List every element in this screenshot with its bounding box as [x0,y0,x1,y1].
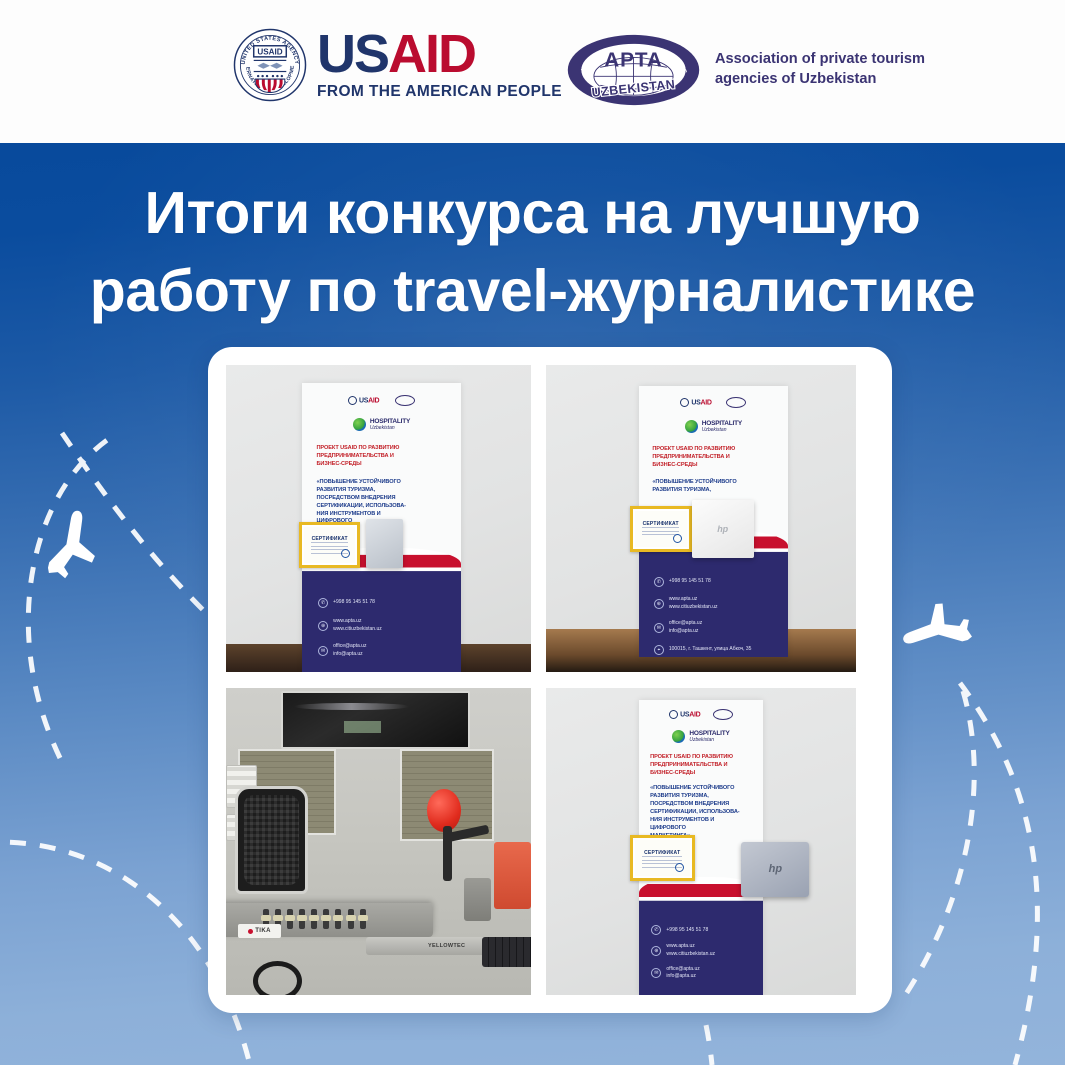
office-chair [235,786,308,893]
rollup-red-heading: ПРОЕКТ USAID ПО РАЗВИТИЮ ПРЕДПРИНИМАТЕЛЬ… [317,445,452,469]
rollup-brand-sub: Uzbekistan [370,425,410,431]
studio-headphones [253,961,302,995]
rollup4-navy-footer: ✆ +998 95 145 51 78 ⊕ www.apta.uz www.ci… [639,915,763,995]
certificate-frame-2: СЕРТИФИКАТ [630,506,692,552]
apta-name-text: Association of private tourism agencies … [715,50,925,89]
usaid-seal-icon: UNITED STATES AGENCY INTERNATIONAL DEVEL… [233,28,307,102]
globe-web-icon: ⊕ [654,599,664,609]
rollup-mail-block: office@apta.uz info@apta.uz [333,643,366,658]
globe-icon [685,420,698,433]
rollup2-navy-footer: ✆ +998 95 145 51 78 ⊕ www.apta.uz www.ci… [639,565,788,657]
rollup4-contact-phone-row: ✆ +998 95 145 51 78 [651,925,763,935]
rollup2-blue-text: «ПОВЫШЕНИЕ УСТОЙЧИВОГО РАЗВИТИЯ ТУРИЗМА, [652,479,778,495]
rollup2-address: 100015, г. Ташкент, улица Абкоч, 35 [669,646,752,654]
usaid-tagline: FROM THE AMERICAN PEOPLE [317,83,562,101]
studio-orange-panel [494,842,531,910]
rollup4-mail2: info@apta.uz [666,973,699,981]
rollup4-mail-block: office@apta.uz info@apta.uz [666,966,699,981]
apta-oval-icon: ASSOCIATION OF PRIVATE TOURISM AGENCIES … [566,33,701,107]
rollup2-web-block: www.apta.uz www.citiuzbekistan.uz [669,596,718,611]
rollup4-contact-web-row: ⊕ www.apta.uz www.citiuzbekistan.uz [651,943,763,958]
white-laptop-box: hp [692,500,754,558]
hp-laptop: hp [741,842,809,897]
rollup2-blue-line1: «ПОВЫШЕНИЕ УСТОЙЧИВОГО [652,479,778,487]
rollup2-hospitality-logo: HOSPITALITY Uzbekistan [639,420,788,433]
main-gradient-panel: Итоги конкурса на лучшую работу по trave… [0,143,1065,1065]
certificate-inner: СЕРТИФИКАТ [304,527,355,563]
mail-icon: ✉ [318,646,328,656]
apta-logo: ASSOCIATION OF PRIVATE TOURISM AGENCIES … [566,33,925,107]
usaid-wordmark: USAID FROM THE AMERICAN PEOPLE [317,29,562,101]
tika-brand-text: TIKA [255,928,271,934]
rollup4-red-line1: ПРОЕКТ USAID ПО РАЗВИТИЮ [650,754,755,762]
tika-dot-icon [248,929,253,934]
tablet-device [366,519,403,568]
certificate-title-2: СЕРТИФИКАТ [635,521,687,527]
usaid-wordmark-text: USAID [317,29,562,80]
rollup2-contacts: ✆ +998 95 145 51 78 ⊕ www.apta.uz www.ci… [639,565,788,655]
rollup-web1: www.apta.uz [333,618,382,626]
rollup-contact-web-row: ⊕ www.apta.uz www.citiuzbekistan.uz [318,618,461,633]
rollup4-brand-sub: Uzbekistan [689,737,729,743]
hp-laptop-logo-icon: hp [769,863,782,875]
rollup4-web-block: www.apta.uz www.citiuzbekistan.uz [666,943,715,958]
rollup4-phone: +998 95 145 51 78 [666,927,708,935]
rollup4-red-line2: ПРЕДПРИНИМАТЕЛЬСТВА И [650,762,755,770]
page-title-line1: Итоги конкурса на лучшую [0,174,1065,252]
globe-icon [672,730,685,743]
photo-grid: USAID HOSPITALITY Uzbekistan ПРОЕКТ USAI… [226,365,874,995]
apta-name-line2: agencies of Uzbekistan [715,70,925,90]
rollup2-red-line1: ПРОЕКТ USAID ПО РАЗВИТИЮ [652,446,778,454]
studio-wall-tv [281,691,470,749]
studio-monitor-stand [464,878,491,921]
rollup-hospitality-logo: HOSPITALITY Uzbekistan [302,418,461,431]
rollup-red-line1: ПРОЕКТ USAID ПО РАЗВИТИЮ [317,445,452,453]
rollup4-contact-mail-row: ✉ office@apta.uz info@apta.uz [651,966,763,981]
rollup4-usaid-logo: USAID [669,710,700,719]
rollup-blue-line3: ПОСРЕДСТВОМ ВНЕДРЕНИЯ [317,495,452,503]
certificate-seal-icon [341,549,350,558]
rollup2-brand-name: HOSPITALITY [702,420,742,427]
rollup2-web2: www.citiuzbekistan.uz [669,604,718,612]
photo-radio-studio[interactable]: TIKA YELLOWTEC [226,688,531,995]
photo-award-woman-yellow[interactable]: USAID HOSPITALITY Uzbekistan ПРОЕКТ USAI… [546,365,856,672]
rollup-phone: +998 95 145 51 78 [333,599,375,607]
rollup4-apta-logo [713,709,733,720]
svg-text:APTA: APTA [604,48,662,71]
usaid-word-aid: AID [388,24,475,84]
rollup2-usaid-logo: USAID [680,398,711,407]
rollup-apta-logo [395,395,415,406]
rollup4-web1: www.apta.uz [666,943,715,951]
rollup4-hospitality-logo: HOSPITALITY Uzbekistan [639,730,763,743]
rollup4-mail1: office@apta.uz [666,966,699,974]
rollup-contacts: ✆ +998 95 145 51 78 ⊕ www.apta.uz www.ci… [302,585,461,658]
certificate-seal-icon-2 [673,534,682,543]
mail-icon: ✉ [654,623,664,633]
airplane-icon-right [901,595,979,670]
rollup2-brand-sub: Uzbekistan [702,427,742,433]
rollup2-mail2: info@apta.uz [669,628,702,636]
rollup-red-line2: ПРЕДПРИНИМАТЕЛЬСТВА И [317,453,452,461]
yellowtec-brand-text: YELLOWTEC [428,943,465,949]
globe-web-icon: ⊕ [318,621,328,631]
mic-arm-yellowtec: YELLOWTEC [366,937,500,955]
rollup2-mail1: office@apta.uz [669,620,702,628]
rollup4-brand-name: HOSPITALITY [689,730,729,737]
rollup-mail1: office@apta.uz [333,643,366,651]
rollup-contact-mail-row: ✉ office@apta.uz info@apta.uz [318,643,461,658]
certificate-frame: СЕРТИФИКАТ [299,522,360,568]
phone-icon: ✆ [654,577,664,587]
certificate-inner-4: СЕРТИФИКАТ [635,840,690,876]
header-logo-band: UNITED STATES AGENCY INTERNATIONAL DEVEL… [0,0,1065,143]
rollup-blue-line5: НИЯ ИНСТРУМЕНТОВ И [317,511,452,519]
dashed-path-right [960,683,1037,1065]
rollup-logos: USAID [302,383,461,405]
mail-icon: ✉ [651,968,661,978]
certificate-seal-icon-4 [675,863,684,872]
page-title: Итоги конкурса на лучшую работу по trave… [0,174,1065,331]
rollup4-blue-text: «ПОВЫШЕНИЕ УСТОЙЧИВОГО РАЗВИТИЯ ТУРИЗМА,… [650,785,755,841]
rollup2-contact-mail-row: ✉ office@apta.uz info@apta.uz [654,620,788,635]
svg-text:USAID: USAID [257,47,282,56]
rollup2-mail-block: office@apta.uz info@apta.uz [669,620,702,635]
certificate-title: СЕРТИФИКАТ [304,536,355,542]
rollup4-blue-line4: СЕРТИФИКАЦИИ, ИСПОЛЬЗОВА- [650,809,755,817]
photo-award-woman-laptop[interactable]: USAID HOSPITALITY Uzbekistan ПРОЕКТ USAI… [546,688,856,995]
globe-icon [353,418,366,431]
rollup4-blue-line5: НИЯ ИНСТРУМЕНТОВ И [650,817,755,825]
rollup-red-line3: БИЗНЕС-СРЕДЫ [317,461,452,469]
phone-icon: ✆ [318,598,328,608]
studio-keyboard [482,937,531,968]
rollup2-red-line3: БИЗНЕС-СРЕДЫ [652,462,778,470]
rollup2-blue-line2: РАЗВИТИЯ ТУРИЗМА, [652,487,778,495]
rollup-mail2: info@apta.uz [333,651,366,659]
page-title-line2: работу по travel-журналистике [0,252,1065,330]
photo-award-man-tablet[interactable]: USAID HOSPITALITY Uzbekistan ПРОЕКТ USAI… [226,365,531,672]
rollup4-blue-line1: «ПОВЫШЕНИЕ УСТОЙЧИВОГО [650,785,755,793]
rollup4-web2: www.citiuzbekistan.uz [666,951,715,959]
rollup4-contacts: ✆ +998 95 145 51 78 ⊕ www.apta.uz www.ci… [639,915,763,981]
certificate-inner-2: СЕРТИФИКАТ [635,511,687,547]
rollup-web-block: www.apta.uz www.citiuzbekistan.uz [333,618,382,633]
rollup-blue-line1: «ПОВЫШЕНИЕ УСТОЙЧИВОГО [317,479,452,487]
rollup2-logos: USAID [639,386,788,407]
rollup2-contact-phone-row: ✆ +998 95 145 51 78 [654,577,788,587]
chair-mesh [244,795,299,884]
rollup2-web1: www.apta.uz [669,596,718,604]
usaid-word-us: US [317,24,388,84]
rollup4-red-line3: БИЗНЕС-СРЕДЫ [650,770,755,778]
dashed-path-right-inner [900,691,974,1003]
rollup2-red-heading: ПРОЕКТ USAID ПО РАЗВИТИЮ ПРЕДПРИНИМАТЕЛЬ… [652,446,778,470]
rollup4-blue-line6: ЦИФРОВОГО [650,825,755,833]
rollup2-contact-web-row: ⊕ www.apta.uz www.citiuzbekistan.uz [654,596,788,611]
rollup4-logos: USAID [639,700,763,720]
tv-screen-glare [294,703,409,711]
tika-brand-label: TIKA [238,924,281,938]
rollup-blue-line2: РАЗВИТИЯ ТУРИЗМА, [317,487,452,495]
rollup-web2: www.citiuzbekistan.uz [333,626,382,634]
location-pin-icon: ⌖ [654,645,664,655]
rollup4-blue-line3: ПОСРЕДСТВОМ ВНЕДРЕНИЯ [650,801,755,809]
globe-web-icon: ⊕ [651,946,661,956]
phone-icon: ✆ [651,925,661,935]
rollup4-red-heading: ПРОЕКТ USAID ПО РАЗВИТИЮ ПРЕДПРИНИМАТЕЛЬ… [650,754,755,778]
rollup4-blue-line2: РАЗВИТИЯ ТУРИЗМА, [650,793,755,801]
rollup2-phone: +998 95 145 51 78 [669,578,711,586]
certificate-frame-4: СЕРТИФИКАТ [630,835,695,881]
rollup2-apta-logo [726,397,746,408]
apta-name-line1: Association of private tourism [715,50,925,70]
rollup-blue-line4: СЕРТИФИКАЦИИ, ИСПОЛЬЗОВА- [317,503,452,511]
photo-collage-card: USAID HOSPITALITY Uzbekistan ПРОЕКТ USAI… [208,347,892,1013]
laptop-logo-icon: hp [717,524,728,534]
rollup2-contact-address-row: ⌖ 100015, г. Ташкент, улица Абкоч, 35 [654,645,788,655]
usaid-logo: UNITED STATES AGENCY INTERNATIONAL DEVEL… [233,28,562,102]
rollup-contact-phone-row: ✆ +998 95 145 51 78 [318,598,461,608]
certificate-title-4: СЕРТИФИКАТ [635,850,690,856]
rollup-navy-footer: ✆ +998 95 145 51 78 ⊕ www.apta.uz www.ci… [302,585,461,672]
rollup-usaid-logo: USAID [348,396,379,405]
rollup2-red-line2: ПРЕДПРИНИМАТЕЛЬСТВА И [652,454,778,462]
rollup-brand-name: HOSPITALITY [370,418,410,425]
